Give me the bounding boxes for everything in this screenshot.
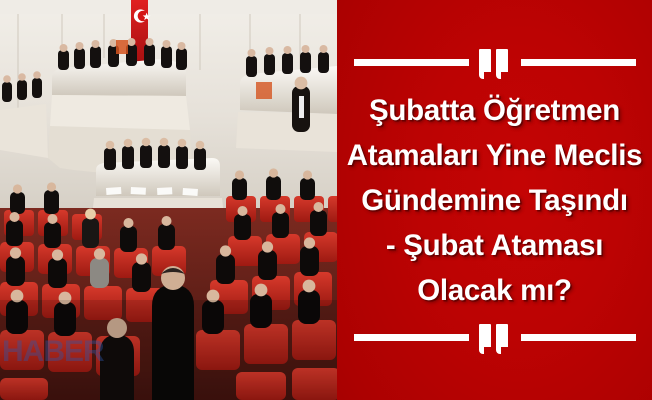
decorator-top — [345, 48, 644, 78]
headline-line-5: Olacak mı? — [345, 268, 644, 313]
quote-close-icon — [478, 324, 512, 352]
headline-line-2: Atamaları Yine Meclis — [345, 133, 644, 178]
decorator-rule-left — [354, 59, 469, 66]
decorator-rule-right — [521, 59, 636, 66]
page-title: Şubatta Öğretmen Atamaları Yine Meclis G… — [345, 88, 644, 313]
headline-line-4: - Şubat Ataması — [345, 223, 644, 268]
news-thumbnail-card: HABER Şubatta Öğretmen Atamaları Yine Me… — [0, 0, 652, 400]
parliament-photo-illustration — [0, 0, 337, 400]
decorator-bottom — [345, 323, 644, 353]
headline-panel: Şubatta Öğretmen Atamaları Yine Meclis G… — [337, 0, 652, 400]
quote-open-icon — [478, 49, 512, 77]
decorator-rule-left-bottom — [354, 334, 469, 341]
parliament-photo: HABER — [0, 0, 337, 400]
headline-line-1: Şubatta Öğretmen — [345, 88, 644, 133]
headline-line-3: Gündemine Taşındı — [345, 178, 644, 223]
decorator-rule-right-bottom — [521, 334, 636, 341]
